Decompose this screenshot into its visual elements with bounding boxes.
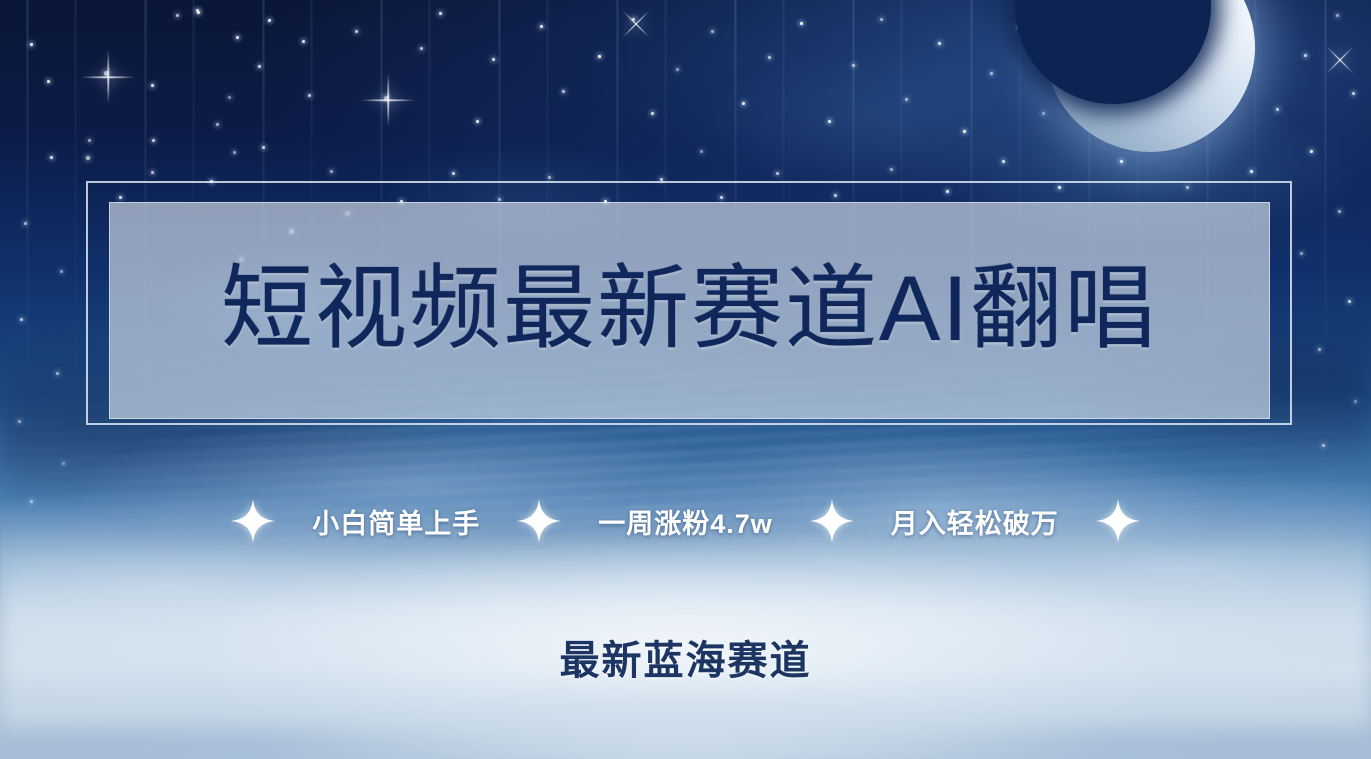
sparkle-star-icon <box>516 498 562 544</box>
star-icon <box>236 36 239 39</box>
star-icon <box>548 176 551 179</box>
star-icon <box>258 65 261 68</box>
star-icon <box>905 98 908 101</box>
sparkle-star-icon <box>230 498 276 544</box>
star-icon <box>562 90 565 93</box>
star-icon <box>420 47 423 50</box>
star-icon <box>742 102 745 105</box>
star-icon <box>776 172 779 175</box>
star-icon <box>492 58 495 61</box>
star-icon <box>476 120 479 123</box>
star-icon <box>828 120 831 123</box>
star-icon <box>30 43 33 46</box>
title-panel: 短视频最新赛道AI翻唱 <box>109 202 1270 419</box>
feature-label: 月入轻松破万 <box>891 502 1059 541</box>
star-icon <box>233 151 236 154</box>
star-icon <box>50 156 53 159</box>
star-icon <box>268 19 271 22</box>
star-icon <box>963 130 966 133</box>
feature-label: 小白简单上手 <box>312 502 480 541</box>
star-icon <box>452 172 455 175</box>
tagline: 最新蓝海赛道 <box>0 628 1371 686</box>
star-icon <box>86 156 90 160</box>
star-icon <box>540 25 543 28</box>
star-icon <box>1336 14 1339 17</box>
star-icon <box>88 139 91 142</box>
star-icon <box>711 30 714 33</box>
star-icon <box>262 146 265 149</box>
star-icon <box>228 96 231 99</box>
feature-row: 小白简单上手一周涨粉4.7w月入轻松破万 <box>0 498 1371 544</box>
star-icon <box>308 94 311 97</box>
star-icon <box>700 150 703 153</box>
star-icon <box>880 18 883 21</box>
star-icon <box>60 270 63 273</box>
star-icon <box>768 56 771 59</box>
star-icon <box>1300 252 1303 255</box>
star-icon <box>800 22 803 25</box>
star-icon <box>676 68 679 71</box>
star-icon <box>852 64 855 67</box>
star-icon <box>938 42 941 45</box>
star-icon <box>890 168 893 171</box>
feature-label: 一周涨粉4.7w <box>598 502 773 541</box>
star-icon <box>355 30 358 33</box>
star-icon <box>24 222 27 225</box>
star-icon <box>151 171 154 174</box>
star-icon <box>152 139 155 142</box>
star-icon <box>439 12 442 15</box>
sparkle-star-icon <box>1095 498 1141 544</box>
star-icon <box>302 40 305 43</box>
star-icon <box>176 14 179 17</box>
page-title: 短视频最新赛道AI翻唱 <box>221 263 1158 359</box>
star-icon <box>598 55 601 58</box>
star-icon <box>651 112 654 115</box>
star-icon <box>1002 160 1005 163</box>
star-icon <box>197 11 200 14</box>
star-icon <box>1338 210 1341 213</box>
star-icon <box>151 84 154 87</box>
promo-poster: 短视频最新赛道AI翻唱 小白简单上手一周涨粉4.7w月入轻松破万 最新蓝海赛道 <box>0 0 1371 759</box>
crescent-moon-icon <box>1045 0 1255 152</box>
sparkle-star-icon <box>809 498 855 544</box>
star-icon <box>1352 92 1355 95</box>
star-icon <box>47 80 50 83</box>
star-icon <box>216 123 219 126</box>
star-icon <box>1310 150 1313 153</box>
star-icon <box>330 170 333 173</box>
